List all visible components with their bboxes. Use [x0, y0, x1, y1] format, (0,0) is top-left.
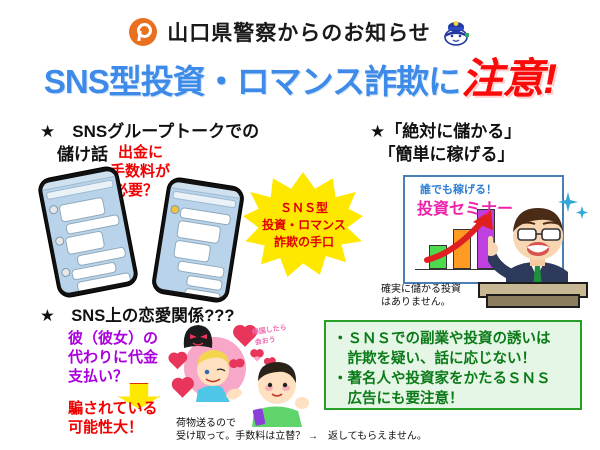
withdrawal-fee-note-line1: 出金に — [118, 144, 163, 162]
group-talk-heading-line1: ★ SNSグループトークでの — [40, 117, 259, 142]
romance-purple-line3: 支払い？ — [68, 368, 128, 387]
profit-caption-line1: 確実に儲かる投資 — [381, 283, 461, 296]
podium-base — [486, 294, 580, 308]
title-blue-text: SNS型投資・ロマンス詐欺に — [44, 55, 460, 103]
chat-bubbles — [155, 200, 238, 299]
group-talk-heading-line2: 儲け話 — [57, 140, 108, 165]
romance-speech-line2: 会おう — [254, 336, 276, 348]
title-red-text: 注意! — [461, 59, 556, 99]
advice-line4: 広告にも要注意！ — [333, 389, 464, 409]
presenter-character — [488, 196, 586, 294]
chat-bubbles — [45, 189, 135, 294]
romance-caption-line2: 受け取って。手数料は立替？ → 返してもらえません。 — [176, 430, 427, 443]
advice-line1: ・ＳＮＳでの副業や投資の誘いは — [333, 329, 551, 349]
phone-mockup-right — [151, 177, 244, 303]
chat-avatar — [170, 204, 180, 214]
romance-red-line1: 騙されている — [68, 400, 158, 418]
main-title: SNS型投資・ロマンス詐欺に 注意! — [0, 55, 600, 103]
heart-icon — [170, 354, 186, 370]
advice-line2: 詐欺を疑い、話に応じない！ — [333, 349, 536, 369]
romance-caption-line1: 荷物送るので — [176, 417, 236, 430]
burst-line2: 投資・ロマンス — [252, 217, 356, 233]
profit-caption-line2: はありません。 — [381, 296, 451, 309]
chat-screen-right — [155, 181, 241, 299]
romance-purple-line1: 彼（彼女）の — [68, 330, 158, 349]
advice-line3: ・著名人や投資家をかたるＳＮＳ — [333, 369, 551, 389]
victim-character — [240, 357, 320, 427]
profit-heading-line2: 「簡単に稼げる」 — [370, 140, 515, 165]
chat-bubble — [177, 260, 225, 278]
burst-line1: ＳＮＳ型 — [252, 200, 356, 216]
police-mascot-icon — [441, 18, 471, 46]
poster-canvas: 山口県警察からのお知らせ SNS型投資・ロマンス詐欺に 注意! ★ SNSグルー… — [0, 0, 600, 450]
romance-purple-line2: 代わりに代金 — [68, 349, 158, 368]
chat-bubble — [173, 240, 211, 263]
romance-red-line2: 可能性大！ — [68, 419, 143, 437]
withdrawal-fee-note-line2: 手数料が — [110, 163, 170, 181]
heart-icon — [173, 379, 191, 397]
profit-heading-line1: ★「絶対に儲かる」 — [370, 117, 521, 142]
burst-line3: 詐欺の手口 — [252, 234, 356, 250]
chat-avatar — [48, 204, 59, 215]
chat-avatar — [54, 236, 65, 247]
chat-avatar — [61, 267, 72, 278]
header-bar: 山口県警察からのお知らせ — [0, 12, 600, 52]
yamaguchi-police-logo-icon — [129, 18, 157, 46]
header-title: 山口県警察からのお知らせ — [167, 17, 431, 47]
